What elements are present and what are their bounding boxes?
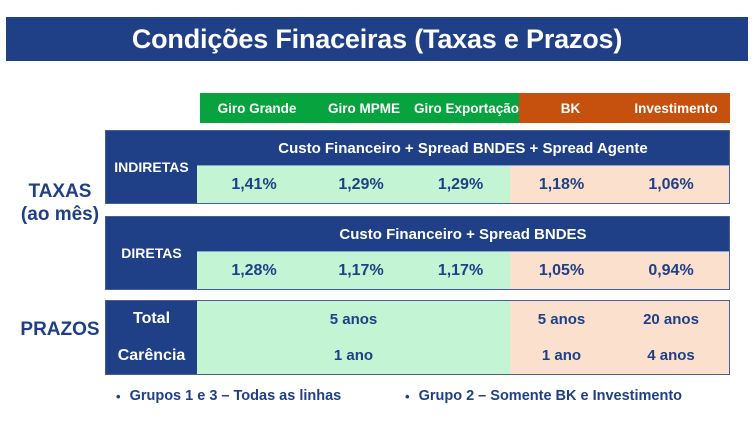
slide-title-bar: Condições Finaceiras (Taxas e Prazos) bbox=[6, 17, 748, 61]
indiretas-value-investimento: 1,06% bbox=[613, 166, 729, 203]
indiretas-value-giro-exportacao: 1,29% bbox=[411, 166, 510, 203]
rate-block-diretas: DIRETAS Custo Financeiro + Spread BNDES … bbox=[105, 216, 730, 290]
column-header-giro-exportacao: Giro Exportação bbox=[414, 93, 519, 123]
row-tag-indiretas: INDIRETAS bbox=[106, 131, 197, 203]
row-tag-total: Total bbox=[106, 301, 197, 338]
diretas-value-investimento: 0,94% bbox=[613, 252, 729, 289]
diretas-caption: Custo Financeiro + Spread BNDES bbox=[197, 217, 729, 251]
prazos-row-tags: Total Carência bbox=[106, 301, 197, 374]
indiretas-value-giro-grande: 1,41% bbox=[197, 166, 311, 203]
column-header-giro-grande: Giro Grande bbox=[200, 93, 314, 123]
section-label-taxas-line1: TAXAS bbox=[8, 180, 112, 203]
row-tag-carencia: Carência bbox=[106, 338, 197, 375]
prazos-block: Total Carência 5 anos 5 anos 20 anos 1 a… bbox=[105, 300, 730, 375]
footnote-1-text: Grupos 1 e 3 – Todas as linhas bbox=[130, 388, 342, 404]
diretas-value-giro-exportacao: 1,17% bbox=[411, 252, 510, 289]
prazos-row-total: 5 anos 5 anos 20 anos bbox=[197, 301, 729, 338]
indiretas-value-giro-mpme: 1,29% bbox=[311, 166, 411, 203]
prazos-total-investimento: 20 anos bbox=[613, 301, 729, 338]
footnote-grupo-2: • Grupo 2 – Somente BK e Investimento bbox=[405, 388, 682, 404]
prazos-carencia-investimento: 4 anos bbox=[613, 338, 729, 375]
page-title: Condições Finaceiras (Taxas e Prazos) bbox=[132, 24, 622, 55]
footnote-2-text: Grupo 2 – Somente BK e Investimento bbox=[419, 388, 682, 404]
bullet-icon: • bbox=[116, 390, 121, 403]
diretas-content: Custo Financeiro + Spread BNDES 1,28% 1,… bbox=[197, 217, 729, 289]
diretas-value-giro-grande: 1,28% bbox=[197, 252, 311, 289]
prazos-row-carencia: 1 ano 1 ano 4 anos bbox=[197, 338, 729, 375]
footnote-grupos-1-e-3: • Grupos 1 e 3 – Todas as linhas bbox=[116, 388, 341, 404]
prazos-carencia-bk: 1 ano bbox=[510, 338, 613, 375]
indiretas-value-bk: 1,18% bbox=[510, 166, 613, 203]
rate-block-indiretas: INDIRETAS Custo Financeiro + Spread BNDE… bbox=[105, 130, 730, 204]
row-tag-diretas: DIRETAS bbox=[106, 217, 197, 289]
slide-canvas: Condições Finaceiras (Taxas e Prazos) Gi… bbox=[0, 0, 754, 429]
section-label-taxas-line2: (ao mês) bbox=[8, 203, 112, 226]
indiretas-content: Custo Financeiro + Spread BNDES + Spread… bbox=[197, 131, 729, 203]
prazos-carencia-giro: 1 ano bbox=[197, 338, 510, 375]
section-label-taxas: TAXAS (ao mês) bbox=[8, 180, 112, 226]
column-header-bk: BK bbox=[519, 93, 622, 123]
diretas-value-row: 1,28% 1,17% 1,17% 1,05% 0,94% bbox=[197, 251, 729, 289]
bullet-icon: • bbox=[405, 390, 410, 403]
prazos-grid: 5 anos 5 anos 20 anos 1 ano 1 ano 4 anos bbox=[197, 301, 729, 374]
diretas-value-bk: 1,05% bbox=[510, 252, 613, 289]
prazos-total-giro: 5 anos bbox=[197, 301, 510, 338]
prazos-total-bk: 5 anos bbox=[510, 301, 613, 338]
indiretas-value-row: 1,41% 1,29% 1,29% 1,18% 1,06% bbox=[197, 165, 729, 203]
section-label-prazos: PRAZOS bbox=[8, 318, 112, 341]
diretas-value-giro-mpme: 1,17% bbox=[311, 252, 411, 289]
indiretas-caption: Custo Financeiro + Spread BNDES + Spread… bbox=[197, 131, 729, 165]
column-header-investimento: Investimento bbox=[622, 93, 730, 123]
column-header-giro-mpme: Giro MPME bbox=[314, 93, 414, 123]
column-header-strip: Giro Grande Giro MPME Giro Exportação BK… bbox=[200, 93, 730, 123]
